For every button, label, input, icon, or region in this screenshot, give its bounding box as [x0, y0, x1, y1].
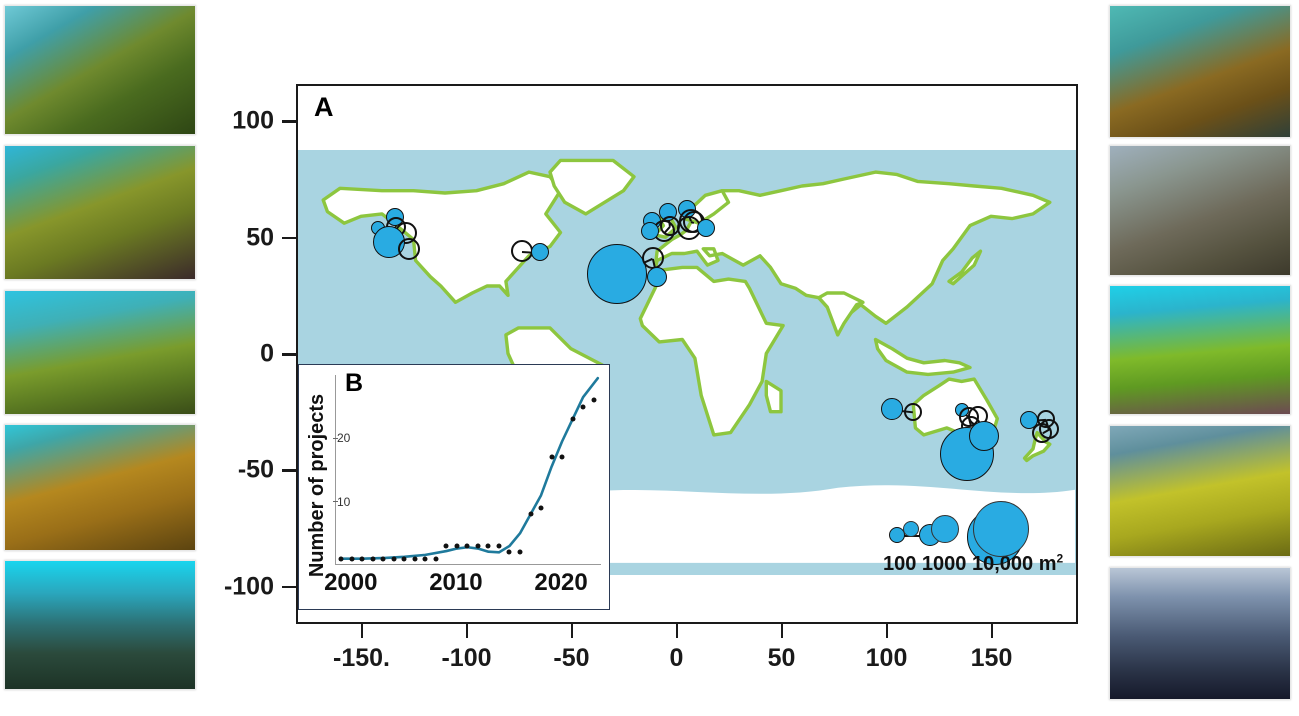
inset-data-point: [444, 544, 449, 549]
x-tick-mark: [571, 624, 574, 638]
restoration-project-bubble[interactable]: [881, 398, 903, 420]
legend-bubble-100: [903, 521, 919, 537]
inset-data-point: [517, 550, 522, 555]
x-tick-mark: [781, 624, 784, 638]
inset-x-tick-label: 2000: [324, 569, 377, 597]
landmass: [876, 340, 971, 375]
inset-y-axis-label: Number of projects: [303, 373, 333, 597]
inset-data-point: [454, 544, 459, 549]
x-tick-label: 100: [866, 644, 908, 673]
restoration-project-bubble-open[interactable]: [904, 403, 922, 421]
inset-data-point: [507, 550, 512, 555]
inset-data-point: [391, 556, 396, 561]
inset-x-tick-label: 2020: [534, 569, 587, 597]
x-tick-mark: [361, 624, 364, 638]
legend-bubble-10000: [973, 501, 1029, 557]
landmass: [949, 251, 981, 284]
restoration-project-bubble[interactable]: [647, 267, 667, 287]
inset-data-point: [402, 556, 407, 561]
bubble-size-legend: 100 1000 10,000 m2: [883, 481, 1073, 576]
inset-data-point: [560, 455, 565, 460]
inset-data-point: [549, 455, 554, 460]
landmass: [819, 293, 863, 335]
x-tick-mark: [466, 624, 469, 638]
inset-data-point: [370, 556, 375, 561]
restoration-project-bubble[interactable]: [697, 219, 715, 237]
inset-data-point: [339, 556, 344, 561]
restoration-project-bubble-open[interactable]: [642, 247, 664, 269]
y-tick-label: -100: [224, 572, 274, 601]
inset-x-tick-label: 2010: [429, 569, 482, 597]
inset-y-tick-mark: [333, 438, 338, 439]
inset-data-point: [539, 506, 544, 511]
restoration-project-bubble[interactable]: [641, 222, 659, 240]
inset-trend-path: [341, 378, 598, 558]
landmass: [550, 160, 634, 214]
y-tick-label: 50: [246, 223, 274, 252]
legend-label: 100 1000 10,000 m2: [883, 551, 1073, 576]
inset-y-tick-label: 10: [337, 495, 350, 509]
restoration-project-bubble-open[interactable]: [398, 238, 420, 260]
inset-data-point: [581, 404, 586, 409]
landmass: [640, 267, 783, 435]
inset-data-point: [349, 556, 354, 561]
landmass: [766, 381, 781, 411]
inset-y-axis-label-text: Number of projects: [307, 393, 330, 576]
x-tick-label: -150.: [333, 644, 390, 673]
legend-bubble-1000: [931, 515, 959, 543]
inset-data-point: [528, 512, 533, 517]
landmass: [323, 172, 560, 302]
inset-data-point: [360, 556, 365, 561]
y-tick-mark: [282, 120, 296, 123]
y-tick-mark: [282, 353, 296, 356]
x-tick-mark: [991, 624, 994, 638]
polar-cap-top: [298, 86, 1075, 150]
panel-a-letter: A: [314, 92, 334, 123]
y-tick-label: -50: [238, 456, 274, 485]
inset-data-point: [570, 417, 575, 422]
inset-data-point: [381, 556, 386, 561]
y-tick-label: 100: [232, 107, 274, 136]
inset-y-tick-mark: [333, 501, 338, 502]
x-tick-label: 0: [670, 644, 684, 673]
x-tick-label: 150: [971, 644, 1013, 673]
inset-data-point: [475, 544, 480, 549]
y-tick-mark: [282, 586, 296, 589]
y-tick-mark: [282, 237, 296, 240]
y-tick-label: 0: [260, 340, 274, 369]
x-tick-mark: [676, 624, 679, 638]
inset-data-point: [486, 544, 491, 549]
x-tick-label: -50: [553, 644, 589, 673]
figure-container: 100500-50-100 -150.-100-50050100150 100 …: [0, 0, 1299, 716]
inset-data-point: [412, 556, 417, 561]
inset-y-tick-label: 20: [337, 431, 350, 445]
inset-data-point: [433, 556, 438, 561]
inset-data-point: [496, 544, 501, 549]
restoration-project-bubble-open[interactable]: [511, 240, 533, 262]
restoration-project-bubble-open[interactable]: [1032, 423, 1052, 443]
inset-data-point: [591, 398, 596, 403]
y-tick-mark: [282, 469, 296, 472]
x-tick-mark: [886, 624, 889, 638]
restoration-project-bubble[interactable]: [969, 421, 999, 451]
panel-a-world-map[interactable]: 100 1000 10,000 m2 Number of projects B …: [296, 84, 1078, 624]
map-canvas: 100 1000 10,000 m2 Number of projects B …: [298, 86, 1076, 622]
restoration-project-bubble[interactable]: [587, 244, 647, 304]
inset-trend-line: [336, 375, 602, 565]
inset-data-point: [423, 556, 428, 561]
inset-plot-area: [335, 375, 601, 565]
x-tick-label: -100: [441, 644, 491, 673]
inset-data-point: [465, 544, 470, 549]
panel-b-inset-chart[interactable]: Number of projects B 1020200020102020: [298, 364, 610, 610]
x-tick-label: 50: [768, 644, 796, 673]
restoration-project-bubble[interactable]: [531, 243, 549, 261]
